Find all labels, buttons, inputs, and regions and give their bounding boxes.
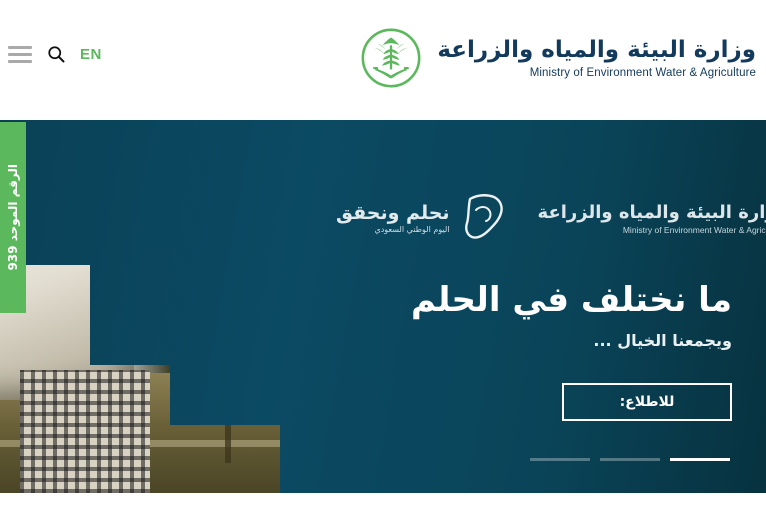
page-root: EN وزارة البيئة والمياه والزراعة Ministr… [0, 0, 766, 511]
hamburger-line [8, 46, 32, 49]
farmer-garment-decor [20, 425, 150, 493]
site-header: EN وزارة البيئة والمياه والزراعة Ministr… [0, 0, 766, 120]
page-bottom-strip [0, 493, 766, 511]
unified-number-side-tab[interactable]: الرقم الموحد 939 [0, 122, 26, 313]
hero-photo-image [0, 425, 280, 493]
carousel-dot-3[interactable] [670, 458, 730, 461]
hero-photo-step-3 [0, 425, 280, 493]
hero-title: ما نختلف في الحلم [212, 280, 732, 321]
site-brand[interactable]: وزارة البيئة والمياه والزراعة Ministry o… [359, 26, 756, 90]
brand-name-english: Ministry of Environment Water & Agricult… [437, 67, 756, 79]
saudi-palm-swords-emblem-icon [359, 26, 423, 90]
header-left-controls: EN [8, 44, 102, 64]
language-switch-button[interactable]: EN [80, 46, 102, 63]
hero-cta-button[interactable]: للاطلاع: [562, 383, 732, 421]
hamburger-menu-icon[interactable] [8, 46, 32, 63]
hero-subtitle: ويجمعنا الخيال ... [212, 331, 732, 350]
carousel-indicators [530, 458, 730, 461]
carousel-dot-2[interactable] [600, 458, 660, 461]
carousel-dot-1[interactable] [530, 458, 590, 461]
hamburger-line [8, 53, 32, 56]
fence-post-decor [225, 425, 231, 463]
hamburger-line [8, 60, 32, 63]
brand-text-block: وزارة البيئة والمياه والزراعة Ministry o… [437, 37, 756, 78]
search-icon[interactable] [46, 44, 66, 64]
hero-text-block: ما نختلف في الحلم ويجمعنا الخيال ... [212, 280, 732, 350]
brand-name-arabic: وزارة البيئة والمياه والزراعة [437, 37, 756, 63]
hero-carousel: الرقم الموحد 939 وزارة البيئة والمياه وا… [0, 120, 766, 493]
unified-number-label: الرقم الموحد 939 [6, 164, 20, 271]
